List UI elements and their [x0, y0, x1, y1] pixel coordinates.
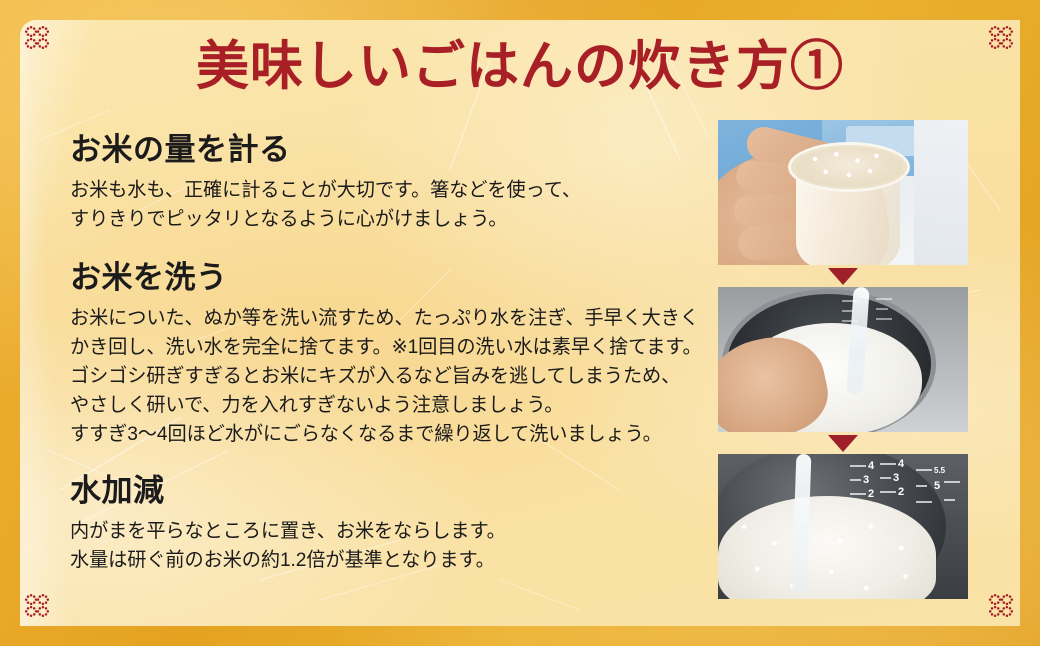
body-line: かき回し、洗い水を完全に捨てます。※1回目の洗い水は素早く捨てます。	[70, 333, 700, 362]
body-line: すすぎ3～4回ほど水がにごらなくなるまで繰り返して洗いましょう。	[70, 420, 700, 449]
ornament-top-left-icon	[22, 24, 52, 54]
body-line: やさしく研いで、力を入れすぎないよう注意しましょう。	[70, 391, 700, 420]
arrow-down-icon	[828, 435, 858, 452]
body-line: 内がまを平らなところに置き、お米をならします。	[70, 517, 700, 546]
photo1-counter	[914, 120, 968, 265]
scale-label: 3	[893, 472, 899, 484]
scale-label: 4	[898, 458, 905, 470]
arrow-down-icon	[828, 268, 858, 285]
body-line: 水量は研ぐ前のお米の約1.2倍が基準となります。	[70, 546, 700, 575]
scale-label: 2	[868, 488, 874, 500]
section-water-amount: 水加減 内がまを平らなところに置き、お米をならします。 水量は研ぐ前のお米の約1…	[70, 473, 700, 575]
photo-washing-rice	[718, 287, 968, 432]
arrow-down-1	[718, 265, 968, 287]
section-body-water-amount: 内がまを平らなところに置き、お米をならします。 水量は研ぐ前のお米の約1.2倍が…	[70, 517, 700, 575]
section-wash-rice: お米を洗う お米についた、ぬか等を洗い流すため、たっぷり水を注ぎ、手早く大きく …	[70, 260, 700, 450]
section-measure-rice: お米の量を計る お米も水も、正確に計ることが大切です。箸などを使って、 すりきり…	[70, 132, 700, 234]
section-body-wash-rice: お米についた、ぬか等を洗い流すため、たっぷり水を注ぎ、手早く大きく かき回し、洗…	[70, 304, 700, 450]
ornament-bottom-right-icon	[986, 592, 1016, 622]
photo-column: 4 3 2 4 3 2 5.5 5	[718, 120, 968, 599]
arrow-down-2	[718, 432, 968, 454]
body-line: すりきりでピッタリとなるように心がけましょう。	[70, 205, 700, 234]
poster-root: 美味しいごはんの炊き方① お米の量を計る お米も水も、正確に計ることが大切です。…	[0, 0, 1040, 646]
scale-label: 5	[934, 480, 940, 492]
photo1-rice	[796, 147, 902, 187]
ornament-bottom-left-icon	[22, 592, 52, 622]
photo-water-level: 4 3 2 4 3 2 5.5 5	[718, 454, 968, 599]
instructions-column: お米の量を計る お米も水も、正確に計ることが大切です。箸などを使って、 すりきり…	[70, 132, 700, 575]
scale-label: 5.5	[934, 466, 946, 475]
section-heading-measure-rice: お米の量を計る	[70, 132, 700, 169]
ornament-top-right-icon	[986, 24, 1016, 54]
body-line: お米についた、ぬか等を洗い流すため、たっぷり水を注ぎ、手早く大きく	[70, 304, 700, 333]
section-heading-wash-rice: お米を洗う	[70, 260, 700, 297]
page-title: 美味しいごはんの炊き方①	[0, 38, 1040, 96]
body-line: お米も水も、正確に計ることが大切です。箸などを使って、	[70, 176, 700, 205]
body-line: ゴシゴシ研ぎすぎるとお米にキズが入るなど旨みを逃してしまうため、	[70, 362, 700, 391]
scale-label: 4	[868, 460, 875, 472]
section-heading-water-amount: 水加減	[70, 473, 700, 510]
section-body-measure-rice: お米も水も、正確に計ることが大切です。箸などを使って、 すりきりでピッタリとなる…	[70, 176, 700, 234]
scale-label: 2	[898, 486, 904, 498]
photo-measuring-cup	[718, 120, 968, 265]
scale-label: 3	[863, 474, 869, 486]
